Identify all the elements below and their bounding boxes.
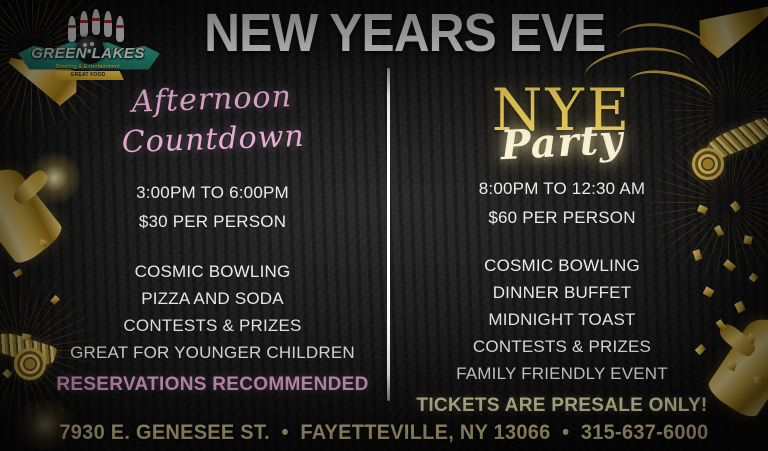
logo-tagline: Bowling & Entertainment xyxy=(18,64,158,70)
logo-name: GREEN LAKES xyxy=(18,45,158,62)
presale-notice: TICKETS ARE PRESALE ONLY! xyxy=(392,395,732,417)
list-item: GREAT FOR YOUNGER CHILDREN xyxy=(40,339,385,366)
footer-address: 7930 E. GENESEE ST. xyxy=(59,421,270,444)
afternoon-feature-list: COSMIC BOWLING PIZZA AND SODA CONTESTS &… xyxy=(40,258,385,366)
list-item: MIDNIGHT TOAST xyxy=(392,306,732,333)
footer-separator-2: • xyxy=(556,421,575,444)
list-item: DINNER BUFFET xyxy=(392,279,732,306)
list-item: PIZZA AND SODA xyxy=(40,285,385,312)
nye-party-column: NYE Party 8:00PM TO 12:30 AM $60 PER PER… xyxy=(392,80,732,417)
afternoon-meta: 3:00PM TO 6:00PM $30 PER PERSON xyxy=(40,178,385,236)
nye-price: $60 PER PERSON xyxy=(392,203,732,232)
list-item: CONTESTS & PRIZES xyxy=(392,333,732,360)
footer-separator-1: • xyxy=(276,421,295,444)
column-divider xyxy=(387,68,390,401)
afternoon-countdown-column: Afternoon Countdown 3:00PM TO 6:00PM $30… xyxy=(40,80,385,396)
green-lakes-logo[interactable]: GREEN LAKES Bowling & Entertainment GREA… xyxy=(18,14,158,84)
contact-footer: 7930 E. GENESEE ST. • FAYETTEVILLE, NY 1… xyxy=(19,421,749,445)
footer-phone[interactable]: 315-637-6000 xyxy=(581,421,709,444)
nye-meta: 8:00PM TO 12:30 AM $60 PER PERSON xyxy=(392,174,732,232)
bowling-pins-icon xyxy=(66,10,134,44)
nye-feature-list: COSMIC BOWLING DINNER BUFFET MIDNIGHT TO… xyxy=(392,252,732,387)
nye-time: 8:00PM TO 12:30 AM xyxy=(392,174,732,203)
list-item: CONTESTS & PRIZES xyxy=(40,312,385,339)
afternoon-time: 3:00PM TO 6:00PM xyxy=(40,178,385,207)
list-item: FAMILY FRIENDLY EVENT xyxy=(392,360,732,387)
nye-heading-group: NYE Party xyxy=(392,80,732,172)
page-title: NEW YEARS EVE xyxy=(204,4,576,62)
confetti-streamer-top-right-1 xyxy=(616,18,711,71)
logo-banner: GREAT FOOD xyxy=(52,71,124,80)
party-horn-top-right xyxy=(690,0,768,63)
afternoon-price: $30 PER PERSON xyxy=(40,207,385,236)
reservations-notice: RESERVATIONS RECOMMENDED xyxy=(40,374,385,396)
footer-city: FAYETTEVILLE, NY 13066 xyxy=(300,421,550,444)
list-item: COSMIC BOWLING xyxy=(392,252,732,279)
logo-banner-text: GREAT FOOD xyxy=(52,71,124,80)
nye-event-flyer: GREEN LAKES Bowling & Entertainment GREA… xyxy=(0,0,768,451)
afternoon-heading: Afternoon Countdown xyxy=(39,74,387,166)
list-item: COSMIC BOWLING xyxy=(40,258,385,285)
